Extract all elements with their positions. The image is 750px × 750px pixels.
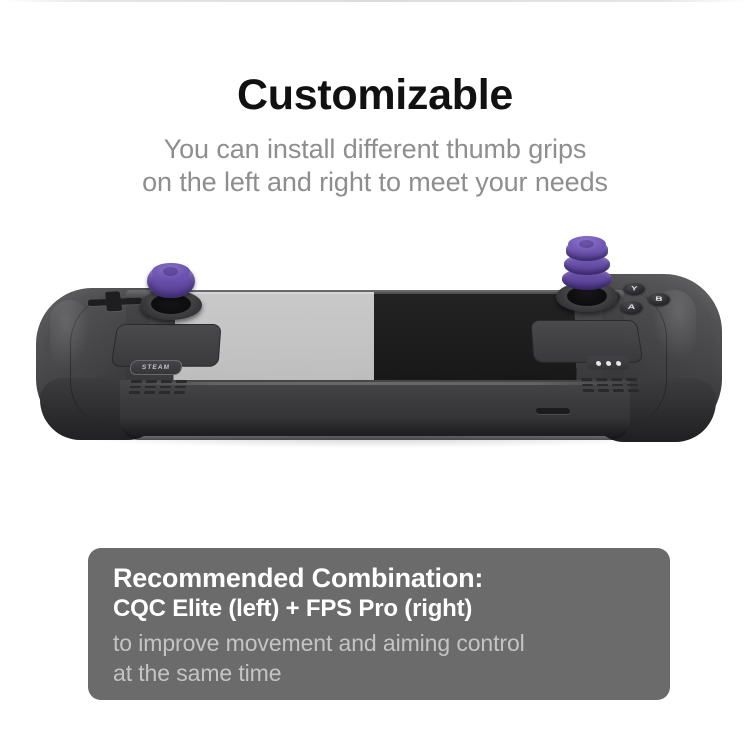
bottom-port-slot (535, 408, 570, 414)
subtitle-line-1: You can install different thumb grips (0, 133, 750, 166)
device-image: Y X B A STEAM (0, 228, 750, 500)
dpad-vertical-arm (105, 291, 122, 311)
steam-button[interactable]: STEAM (129, 360, 183, 375)
recommendation-body-line-2: at the same time (113, 658, 658, 688)
steam-button-label: STEAM (141, 364, 170, 371)
dot-icon (615, 361, 621, 366)
recommendation-body: to improve movement and aiming control a… (113, 628, 658, 688)
right-trackpad[interactable] (531, 320, 644, 363)
recommendation-body-line-1: to improve movement and aiming control (113, 628, 658, 658)
top-hairline (0, 0, 750, 2)
right-thumb-grip-logo (579, 240, 594, 248)
recommendation-panel: Recommended Combination: CQC Elite (left… (88, 548, 670, 700)
right-thumb-grip-fps-pro[interactable] (561, 234, 613, 290)
quick-access-button[interactable] (585, 356, 631, 370)
button-y[interactable]: Y (622, 282, 645, 296)
device-front-highlight (124, 382, 626, 385)
screen-top-highlight (176, 292, 574, 294)
dot-icon (605, 361, 611, 366)
recommendation-combo: CQC Elite (left) + FPS Pro (right) (113, 594, 472, 624)
button-b[interactable]: B (647, 292, 670, 307)
device-bottom-shading (122, 418, 628, 440)
page-subtitle: You can install different thumb grips on… (0, 133, 750, 199)
right-speaker-grille (581, 378, 639, 392)
page-title: Customizable (0, 69, 750, 121)
left-speaker-grille (129, 380, 187, 394)
recommendation-title: Recommended Combination: (113, 562, 483, 594)
subtitle-line-2: on the left and right to meet your needs (0, 166, 750, 199)
dpad[interactable] (84, 290, 148, 312)
dot-icon (595, 361, 601, 366)
left-thumb-grip-logo (163, 267, 178, 276)
